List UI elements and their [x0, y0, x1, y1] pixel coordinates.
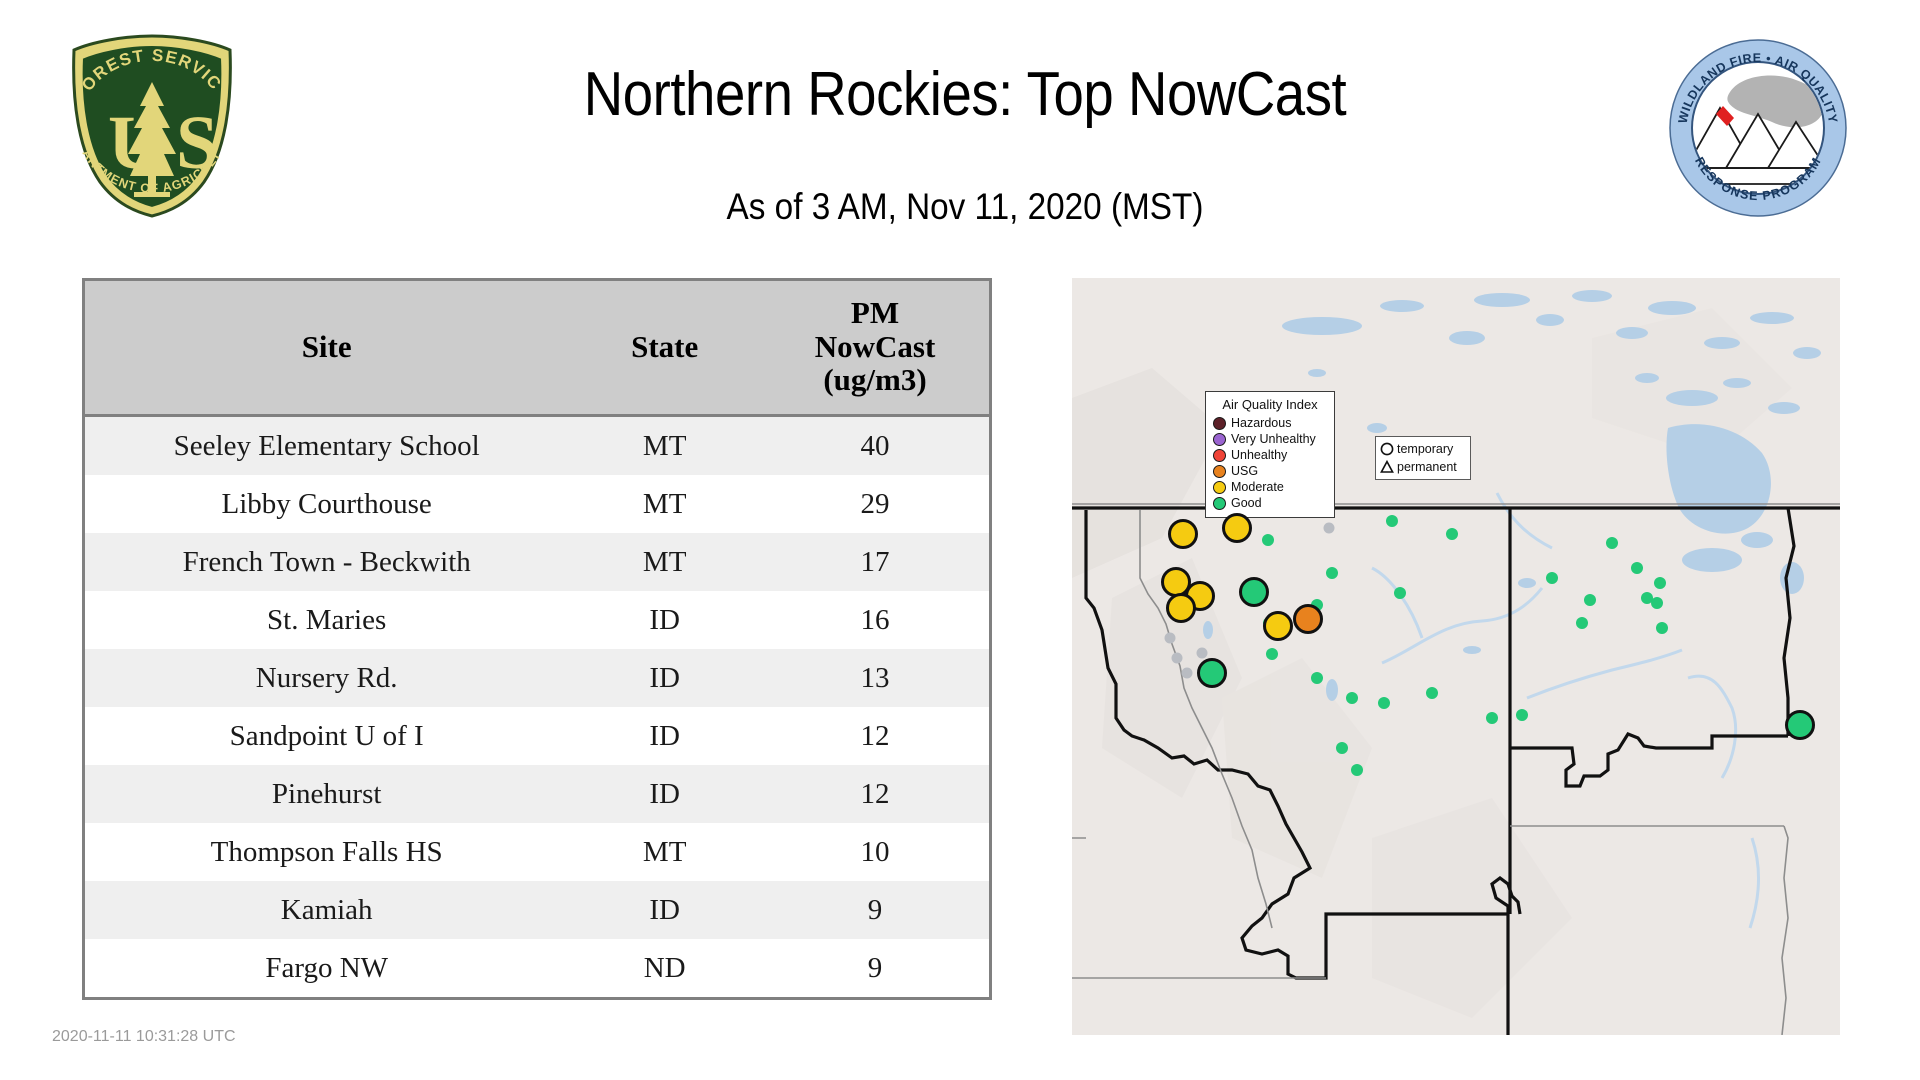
aqi-legend-label: Hazardous: [1231, 416, 1291, 430]
map-monitor-marker-small[interactable]: [1197, 648, 1208, 659]
aqi-legend-row: Moderate: [1213, 479, 1327, 495]
table-row: Fargo NWND9: [85, 939, 989, 997]
aqi-legend-row: USG: [1213, 463, 1327, 479]
site-cell: Seeley Elementary School: [85, 416, 568, 476]
aqi-legend-swatch-icon: [1213, 449, 1226, 462]
map-top-site-marker[interactable]: [1293, 604, 1323, 634]
pm-nowcast-cell: 9: [761, 939, 989, 997]
aqi-legend-swatch-icon: [1213, 481, 1226, 494]
page-title: Northern Rockies: Top NowCast: [380, 62, 1550, 127]
wfaqrp-seal-svg: WILDLAND FIRE • AIR QUALITY RESPONSE PRO…: [1668, 38, 1848, 218]
map-monitor-marker-small[interactable]: [1656, 622, 1668, 634]
map-monitor-marker-small[interactable]: [1584, 594, 1596, 606]
pm-nowcast-cell: 29: [761, 475, 989, 533]
map-monitor-marker-small[interactable]: [1378, 697, 1390, 709]
site-cell: Fargo NW: [85, 939, 568, 997]
circle-outline-icon: [1380, 441, 1394, 457]
map-monitor-marker-small[interactable]: [1336, 742, 1348, 754]
map-top-site-marker[interactable]: [1168, 519, 1198, 549]
site-type-legend: temporary permanent: [1375, 436, 1471, 480]
top-nowcast-table-container: Site State PM NowCast (ug/m3) Seeley Ele…: [82, 278, 992, 1000]
map-top-site-marker[interactable]: [1785, 710, 1815, 740]
state-cell: ND: [568, 939, 761, 997]
state-cell: ID: [568, 591, 761, 649]
aqi-legend: Air Quality Index HazardousVery Unhealth…: [1205, 391, 1335, 518]
map-monitor-marker-small[interactable]: [1546, 572, 1558, 584]
table-header: Site State PM NowCast (ug/m3): [85, 281, 989, 416]
aqi-legend-label: Moderate: [1231, 480, 1284, 494]
map-top-site-marker[interactable]: [1222, 513, 1252, 543]
map-top-site-marker[interactable]: [1166, 593, 1196, 623]
site-type-permanent-row: permanent: [1380, 458, 1466, 476]
map-monitor-marker-small[interactable]: [1631, 562, 1643, 574]
site-cell: Kamiah: [85, 881, 568, 939]
map-monitor-marker-small[interactable]: [1326, 567, 1338, 579]
pm-nowcast-cell: 10: [761, 823, 989, 881]
aqi-legend-label: Very Unhealthy: [1231, 432, 1316, 446]
map-monitor-marker-small[interactable]: [1651, 597, 1663, 609]
table-row: French Town - BeckwithMT17: [85, 533, 989, 591]
aqi-legend-label: Unhealthy: [1231, 448, 1287, 462]
pm-nowcast-cell: 13: [761, 649, 989, 707]
generated-timestamp: 2020-11-11 10:31:28 UTC: [52, 1028, 236, 1046]
column-header-pm-nowcast: PM NowCast (ug/m3): [761, 281, 989, 416]
map-monitor-marker-small[interactable]: [1324, 523, 1335, 534]
pm-nowcast-cell: 12: [761, 765, 989, 823]
state-cell: ID: [568, 765, 761, 823]
site-cell: Thompson Falls HS: [85, 823, 568, 881]
map-monitor-marker-small[interactable]: [1426, 687, 1438, 699]
map-monitor-marker-small[interactable]: [1516, 709, 1528, 721]
triangle-outline-icon: [1380, 459, 1394, 475]
map-monitor-marker-small[interactable]: [1576, 617, 1588, 629]
aqi-legend-row: Good: [1213, 495, 1327, 511]
table-body: Seeley Elementary SchoolMT40Libby Courth…: [85, 416, 989, 998]
map-monitor-marker-small[interactable]: [1165, 633, 1176, 644]
column-header-site: Site: [85, 281, 568, 416]
table-row: Thompson Falls HSMT10: [85, 823, 989, 881]
column-header-state: State: [568, 281, 761, 416]
site-type-temporary-label: temporary: [1397, 442, 1453, 456]
site-cell: French Town - Beckwith: [85, 533, 568, 591]
map-monitor-marker-small[interactable]: [1606, 537, 1618, 549]
aqi-legend-swatch-icon: [1213, 465, 1226, 478]
aqi-legend-label: USG: [1231, 464, 1258, 478]
aqi-legend-items: HazardousVery UnhealthyUnhealthyUSGModer…: [1213, 415, 1327, 511]
pm-nowcast-cell: 40: [761, 416, 989, 476]
table-row: Sandpoint U of IID12: [85, 707, 989, 765]
map-top-site-marker[interactable]: [1239, 577, 1269, 607]
map-monitor-marker-small[interactable]: [1486, 712, 1498, 724]
site-cell: Nursery Rd.: [85, 649, 568, 707]
map-monitor-marker-small[interactable]: [1386, 515, 1398, 527]
map-monitor-marker-small[interactable]: [1172, 653, 1183, 664]
air-quality-monitor-map[interactable]: Air Quality Index HazardousVery Unhealth…: [1072, 278, 1840, 1035]
aqi-legend-swatch-icon: [1213, 497, 1226, 510]
state-cell: MT: [568, 475, 761, 533]
pm-header-line-1: PM: [765, 296, 985, 329]
state-cell: ID: [568, 881, 761, 939]
map-top-site-marker[interactable]: [1263, 611, 1293, 641]
pm-nowcast-cell: 17: [761, 533, 989, 591]
map-monitor-marker-small[interactable]: [1351, 764, 1363, 776]
pm-header-line-2: NowCast: [765, 330, 985, 363]
site-cell: Libby Courthouse: [85, 475, 568, 533]
site-cell: Pinehurst: [85, 765, 568, 823]
table-row: Seeley Elementary SchoolMT40: [85, 416, 989, 476]
map-monitor-marker-small[interactable]: [1654, 577, 1666, 589]
page-subtitle: As of 3 AM, Nov 11, 2020 (MST): [367, 186, 1564, 228]
state-cell: ID: [568, 649, 761, 707]
aqi-legend-title: Air Quality Index: [1213, 397, 1327, 412]
wildland-fire-air-quality-seal-logo: WILDLAND FIRE • AIR QUALITY RESPONSE PRO…: [1668, 38, 1848, 218]
aqi-legend-row: Hazardous: [1213, 415, 1327, 431]
usfs-shield-svg: FOREST SERVICE U S DEPARTMENT OF AGRICUL…: [52, 30, 252, 220]
aqi-legend-swatch-icon: [1213, 417, 1226, 430]
map-monitor-marker-small[interactable]: [1266, 648, 1278, 660]
aqi-legend-swatch-icon: [1213, 433, 1226, 446]
pm-nowcast-cell: 12: [761, 707, 989, 765]
site-cell: St. Maries: [85, 591, 568, 649]
table-row: PinehurstID12: [85, 765, 989, 823]
map-basemap-svg: [1072, 278, 1840, 1035]
table-row: Nursery Rd.ID13: [85, 649, 989, 707]
aqi-legend-row: Unhealthy: [1213, 447, 1327, 463]
state-cell: ID: [568, 707, 761, 765]
pm-header-line-3: (ug/m3): [765, 363, 985, 396]
map-monitor-marker-small[interactable]: [1262, 534, 1274, 546]
state-cell: MT: [568, 823, 761, 881]
map-top-site-marker[interactable]: [1197, 658, 1227, 688]
site-cell: Sandpoint U of I: [85, 707, 568, 765]
site-type-temporary-row: temporary: [1380, 440, 1466, 458]
map-monitor-marker-small[interactable]: [1394, 587, 1406, 599]
pm-nowcast-cell: 9: [761, 881, 989, 939]
table-header-row: Site State PM NowCast (ug/m3): [85, 281, 989, 416]
aqi-legend-label: Good: [1231, 496, 1262, 510]
table-row: St. MariesID16: [85, 591, 989, 649]
us-forest-service-shield-logo: FOREST SERVICE U S DEPARTMENT OF AGRICUL…: [52, 30, 252, 220]
table-row: Libby CourthouseMT29: [85, 475, 989, 533]
map-monitor-marker-small[interactable]: [1446, 528, 1458, 540]
top-nowcast-table: Site State PM NowCast (ug/m3) Seeley Ele…: [85, 281, 989, 997]
pm-nowcast-cell: 16: [761, 591, 989, 649]
aqi-legend-row: Very Unhealthy: [1213, 431, 1327, 447]
map-monitor-marker-small[interactable]: [1311, 672, 1323, 684]
map-monitor-marker-small[interactable]: [1346, 692, 1358, 704]
slide-root: FOREST SERVICE U S DEPARTMENT OF AGRICUL…: [0, 0, 1920, 1080]
state-cell: MT: [568, 416, 761, 476]
map-monitor-marker-small[interactable]: [1182, 668, 1193, 679]
state-cell: MT: [568, 533, 761, 591]
table-row: KamiahID9: [85, 881, 989, 939]
site-type-permanent-label: permanent: [1397, 460, 1457, 474]
